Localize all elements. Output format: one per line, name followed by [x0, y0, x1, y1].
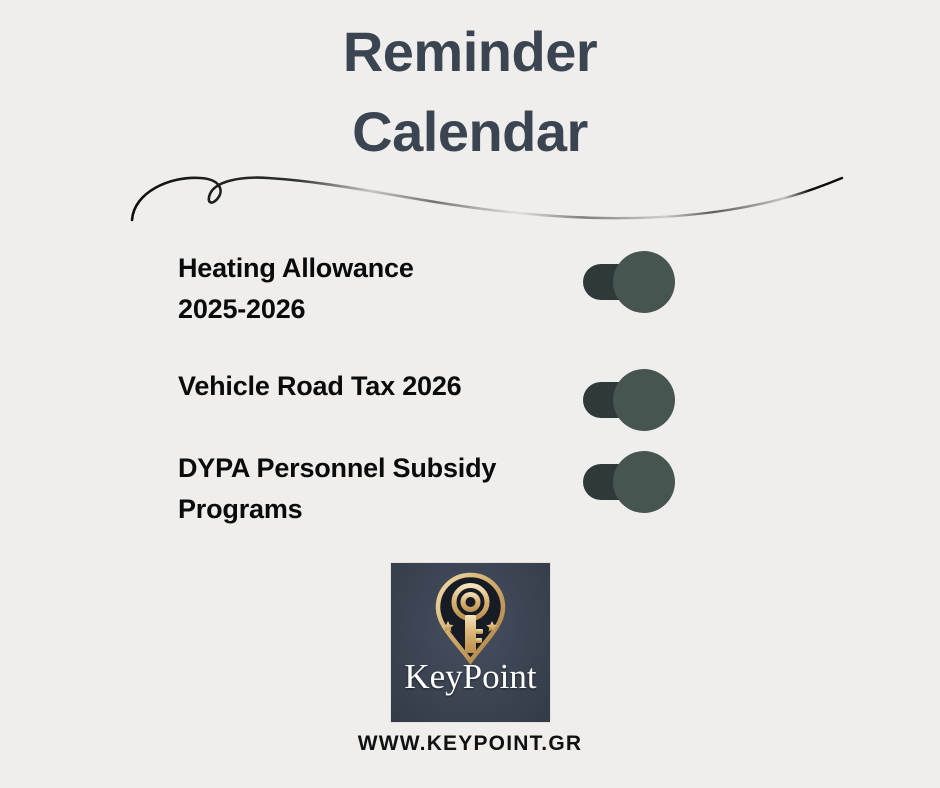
- location-pin-key-icon: [391, 569, 550, 665]
- keypoint-logo: KeyPoint: [390, 562, 551, 723]
- reminder-list: Heating Allowance 2025-2026 Vehicle Road…: [0, 248, 940, 566]
- toggle-dypa-subsidy-programs[interactable]: [583, 457, 675, 501]
- decorative-flourish-line: [118, 158, 858, 236]
- toggle-knob[interactable]: [613, 369, 675, 431]
- page-title-line-1: Reminder: [0, 12, 940, 92]
- toggle-heating-allowance[interactable]: [583, 257, 675, 301]
- reminder-label: Vehicle Road Tax 2026: [178, 366, 578, 407]
- list-item[interactable]: DYPA Personnel Subsidy Programs: [0, 448, 940, 530]
- toggle-vehicle-road-tax[interactable]: [583, 375, 675, 419]
- website-url: WWW.KEYPOINT.GR: [0, 732, 940, 756]
- list-item[interactable]: Heating Allowance 2025-2026: [0, 248, 940, 330]
- reminder-label: Heating Allowance 2025-2026: [178, 248, 578, 330]
- list-item[interactable]: Vehicle Road Tax 2026: [0, 366, 940, 412]
- logo-wordmark: KeyPoint: [391, 659, 550, 694]
- reminder-calendar-poster: Reminder Calendar: [0, 0, 940, 788]
- toggle-knob[interactable]: [613, 451, 675, 513]
- page-title: Reminder Calendar: [0, 12, 940, 171]
- reminder-label: DYPA Personnel Subsidy Programs: [178, 448, 578, 530]
- toggle-knob[interactable]: [613, 251, 675, 313]
